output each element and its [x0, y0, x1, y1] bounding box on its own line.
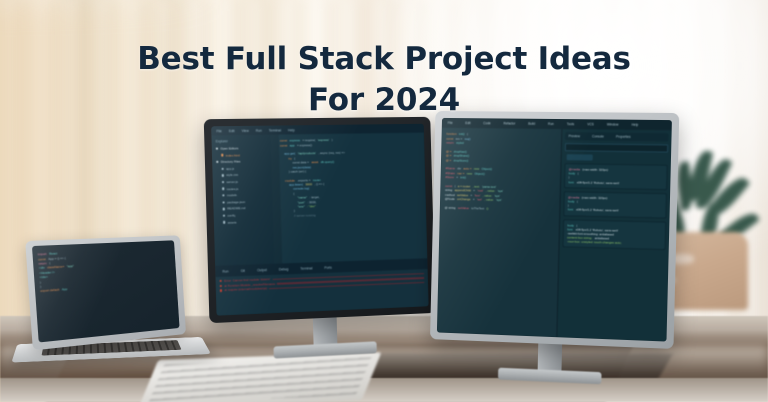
console-error-text: at require (internal/modules/cjs): [224, 287, 267, 293]
file-tree-item[interactable]: Directory Files: [216, 159, 267, 164]
code-token: , () => {: [314, 182, 324, 186]
code-token: #Store: [445, 175, 454, 179]
code-line: font:x08-5px/1.2 'Roboto', sans-serif: [568, 208, 663, 214]
code-token: new: [467, 171, 472, 175]
error-icon: [220, 289, 223, 292]
right-ide-code-pane[interactable]: functioninit(){constres =req()returnstyl…: [437, 128, 562, 337]
panel-tabs[interactable]: PreviewConsoleProperties: [566, 132, 669, 141]
menu-item[interactable]: Edit: [229, 129, 235, 133]
panel-filter-input[interactable]: [565, 143, 668, 152]
menu-item[interactable]: Window: [607, 123, 619, 127]
menu-item[interactable]: Output: [257, 268, 267, 272]
code-token: font:: [568, 180, 574, 184]
file-tree-item[interactable]: style.css: [217, 172, 268, 177]
code-line: font:x08-5px/1.2 'Roboto', sans-serif: [568, 180, 663, 186]
panel-cards[interactable]: @media(max-width: 320px)body{}font:x08-5…: [563, 163, 668, 253]
code-token: console.log(: [293, 187, 309, 191]
center-ide[interactable]: FileEditViewRunTerminalHelp Explorer Ope…: [211, 124, 429, 316]
code-token: const: [280, 143, 287, 147]
file-icon: [223, 201, 226, 203]
code-token: = express(): [297, 143, 312, 147]
file-tree-item[interactable]: config: [218, 212, 269, 217]
file-tree-label: Open Editors: [220, 146, 238, 150]
file-icon: [222, 188, 225, 190]
code-token: init(): [460, 175, 466, 179]
right-ide-side-panel[interactable]: PreviewConsoleProperties @media(max-widt…: [557, 129, 672, 341]
code-token: 'express': [318, 138, 330, 142]
code-token: return: [446, 141, 454, 145]
page-title-line-1: Best Full Stack Project Ideas: [137, 41, 631, 77]
code-token: =: [456, 175, 458, 179]
right-monitor-screen[interactable]: FileEditCodeRefactorBuildRunToolsVCSWind…: [437, 118, 672, 342]
file-tree-label: Directory Files: [221, 160, 241, 164]
code-token: : "dev": [307, 204, 316, 208]
file-tree-item[interactable]: Open Editors: [216, 146, 267, 151]
menu-item[interactable]: Terminal: [300, 266, 312, 270]
file-tree-label: server.js: [226, 180, 238, 184]
menu-item[interactable]: Terminal: [269, 128, 281, 132]
file-icon: [222, 174, 225, 176]
error-icon: [220, 285, 223, 288]
menu-item[interactable]: Run: [548, 122, 554, 126]
file-icon: [223, 214, 226, 216]
code-token: app: [290, 143, 295, 147]
code-token: // server running: [294, 213, 316, 218]
file-tree-label: index.html: [226, 153, 240, 157]
center-ide-sidebar[interactable]: Explorer Open Editorsindex.htmlDirectory…: [211, 135, 274, 266]
right-monitor[interactable]: FileEditCodeRefactorBuildRunToolsVCSWind…: [430, 111, 679, 349]
file-tree-item[interactable]: assets: [218, 219, 269, 225]
page-title-line-2: For 2024: [0, 80, 768, 121]
desk-front-edge: [0, 378, 768, 402]
file-tree-label: style.css: [226, 173, 238, 177]
code-token: req(): [464, 136, 470, 140]
menu-item[interactable]: VCS: [587, 122, 594, 126]
code-token: export default: [40, 288, 59, 293]
code-token: Object(): [474, 171, 484, 175]
code-token: ): [332, 138, 333, 142]
code-token: db.query(): [321, 160, 335, 164]
file-icon: [222, 167, 225, 169]
file-icon: [223, 208, 226, 210]
code-token: toTheText: [471, 206, 484, 210]
file-icon: [221, 154, 224, 156]
code-token: {: [577, 200, 578, 204]
file-tree-item[interactable]: server.js: [217, 179, 268, 184]
code-token: (max-width: 320px): [582, 168, 608, 172]
menu-item[interactable]: View: [242, 128, 249, 132]
code-token: (): [486, 206, 488, 210]
code-token: setValue: [458, 206, 469, 210]
menu-item[interactable]: File: [216, 129, 221, 133]
file-tree-label: README.md: [227, 206, 245, 211]
code-token: x08-5px/1.2 'Roboto', sans-serif: [577, 180, 619, 185]
error-icon: [220, 280, 223, 283]
file-tree-item[interactable]: models: [217, 192, 268, 197]
code-token: 'sys': [496, 198, 502, 202]
menu-item[interactable]: Debug: [279, 267, 289, 271]
center-ide-body: Explorer Open Editorsindex.htmlDirectory…: [211, 133, 427, 266]
code-token: } catch (err) {: [289, 169, 306, 173]
laptop-lid: importReactconstApp = () => {return(<div…: [25, 235, 186, 350]
laptop-code[interactable]: importReactconstApp = () => {return(<div…: [32, 240, 177, 300]
menu-item[interactable]: Git: [241, 268, 245, 272]
file-tree-item[interactable]: routes.js: [217, 186, 268, 191]
right-ide-body: functioninit(){constres =req()returnstyl…: [437, 128, 672, 342]
file-tree-label: assets: [228, 220, 237, 224]
screenshot-canvas: FileEditViewRunTerminalHelp Explorer Ope…: [0, 0, 768, 402]
code-token: x08-5px/1.2 'Roboto', sans-serif: [576, 208, 618, 213]
code-token: App = () => {: [48, 256, 66, 261]
code-token: "env": [298, 204, 305, 208]
center-monitor[interactable]: FileEditViewRunTerminalHelp Explorer Ope…: [204, 117, 436, 323]
panel-card[interactable]: @media(max-width: 320px)body{}font:x08-5…: [564, 163, 667, 190]
code-token: App: [62, 287, 68, 291]
editor-code[interactable]: constexpress= require('express')constapp…: [280, 137, 423, 219]
menu-item[interactable]: Help: [632, 123, 639, 127]
menu-item[interactable]: Edit: [465, 121, 470, 125]
file-icon: [222, 194, 225, 196]
code-token: styled: [456, 141, 464, 145]
right-ide[interactable]: FileEditCodeRefactorBuildRunToolsVCSWind…: [437, 118, 672, 342]
laptop[interactable]: importReactconstApp = () => {return(<div…: [22, 238, 204, 370]
menu-item[interactable]: File: [448, 121, 453, 125]
code-token: @ =: [446, 158, 452, 162]
page-title: Best Full Stack Project Ideas For 2024: [0, 39, 768, 121]
menu-item[interactable]: Run: [222, 269, 228, 273]
menu-item[interactable]: Run: [256, 128, 262, 132]
file-tree[interactable]: Open Editorsindex.htmlDirectory Filesapp…: [216, 146, 269, 225]
laptop-screen[interactable]: importReactconstApp = () => {return(<div…: [32, 240, 180, 342]
file-tree-label: routes.js: [227, 186, 239, 190]
code-token: (max-width: 320px): [582, 195, 608, 200]
panel-run-button[interactable]: [567, 154, 593, 160]
file-icon: [222, 181, 225, 183]
menu-item[interactable]: Build: [528, 122, 535, 126]
menu-item[interactable]: Help: [288, 128, 295, 132]
panel-card[interactable]: body{font:x08-5px/1.2 'Roboto', sans-ser…: [563, 219, 666, 251]
panel-card[interactable]: @media(max-width: 320px)body{}font:x08-5…: [564, 191, 667, 218]
code-token: {: [293, 192, 294, 196]
code-token: try: [288, 156, 291, 160]
explorer-title: Explorer: [216, 139, 267, 144]
menu-item[interactable]: Console: [592, 134, 604, 138]
code-token: @ string: [445, 205, 456, 209]
file-tree-item[interactable]: package.json: [217, 199, 268, 204]
code-token: @Node: [445, 197, 455, 201]
menu-item[interactable]: Code: [483, 121, 491, 125]
code-token: await: [311, 160, 318, 164]
file-tree-label: package.json: [227, 200, 245, 205]
file-tree-label: config: [227, 213, 235, 217]
file-tree-label: models: [227, 193, 237, 197]
code-token: dropStore(): [454, 158, 469, 162]
file-icon: [216, 161, 219, 163]
file-icon: [223, 221, 226, 224]
code-token: onChange: [457, 197, 471, 201]
code-token: '/api/products': [298, 151, 316, 155]
code-token: , value:: [484, 198, 494, 202]
code-token: font:: [568, 208, 574, 212]
code-token: -moz-box: unstyled: touch-changes auto;: [567, 240, 622, 245]
code-token: , async (req, res) =>: [318, 151, 345, 155]
menu-item[interactable]: Preview: [569, 134, 580, 138]
file-tree-item[interactable]: app.js: [216, 166, 267, 171]
menu-item[interactable]: Tools: [567, 122, 575, 126]
center-monitor-screen[interactable]: FileEditViewRunTerminalHelp Explorer Ope…: [211, 124, 429, 316]
menu-item[interactable]: Ports: [324, 265, 331, 269]
file-tree-item[interactable]: README.md: [218, 206, 269, 211]
file-tree-item[interactable]: index.html: [216, 152, 267, 157]
code-token: {: [578, 172, 579, 176]
menu-item[interactable]: Refactor: [503, 121, 515, 125]
file-icon: [216, 147, 219, 149]
file-tree-label: app.js: [226, 166, 234, 170]
code-token: 'set': [477, 197, 482, 201]
center-ide-editor[interactable]: constexpress= require('express')constapp…: [271, 133, 428, 264]
code-token: =: [473, 197, 475, 201]
code-token: "app": [67, 264, 75, 269]
menu-item[interactable]: Properties: [616, 135, 631, 139]
